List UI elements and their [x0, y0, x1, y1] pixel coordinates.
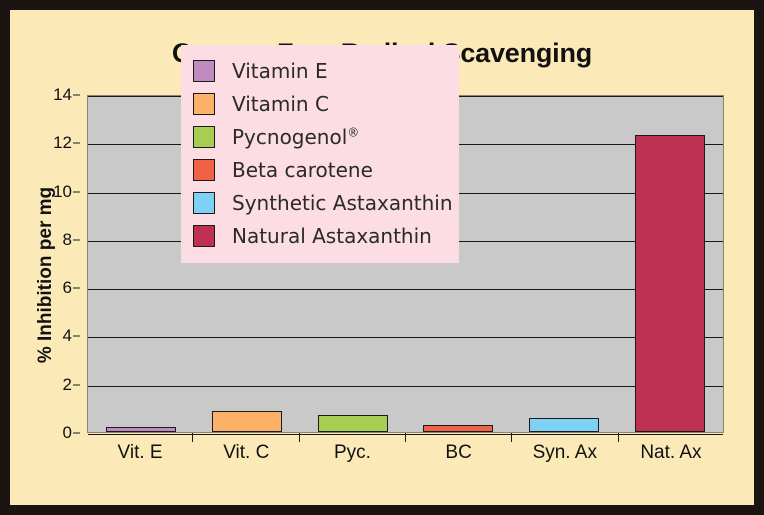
legend-item[interactable]: Vitamin C — [193, 87, 447, 120]
x-axis-tick-label: Vit. E — [87, 442, 193, 464]
x-axis-tick-mark — [619, 433, 724, 442]
bar[interactable] — [318, 415, 388, 432]
bar[interactable] — [635, 135, 705, 432]
x-axis-tick-label: Syn. Ax — [512, 442, 618, 464]
chart-canvas: Oxygen Free Radical Scavenging % Inhibit… — [10, 10, 754, 505]
legend-item[interactable]: Beta carotene — [193, 153, 447, 186]
bar[interactable] — [106, 427, 176, 432]
legend-swatch-icon — [193, 225, 215, 247]
y-axis-tick-mark — [73, 95, 80, 96]
y-axis-tick-label: 0 — [63, 423, 72, 443]
y-axis-tick-label: 2 — [63, 375, 72, 395]
y-axis-tick-mark — [73, 239, 80, 240]
legend-item-label: Vitamin E — [232, 59, 328, 83]
bar-slot — [511, 96, 617, 432]
y-axis-tick-label: 4 — [63, 326, 72, 346]
legend-swatch-icon — [193, 192, 215, 214]
y-axis-tick-mark — [73, 433, 80, 434]
x-axis-tick-label: BC — [406, 442, 512, 464]
y-axis-tick-mark — [73, 191, 80, 192]
legend-item[interactable]: Pycnogenol® — [193, 120, 447, 153]
legend-item-label: Synthetic Astaxanthin — [232, 191, 453, 215]
legend-item-label: Beta carotene — [232, 158, 373, 182]
legend-item[interactable]: Natural Astaxanthin — [193, 219, 447, 252]
legend-item[interactable]: Vitamin E — [193, 54, 447, 87]
legend-item-label: Vitamin C — [232, 92, 329, 116]
y-axis-tick-label: 12 — [53, 133, 72, 153]
y-axis-tick-mark — [73, 288, 80, 289]
legend-item[interactable]: Synthetic Astaxanthin — [193, 186, 447, 219]
chart-outer-frame: Oxygen Free Radical Scavenging % Inhibit… — [0, 0, 764, 515]
legend-swatch-icon — [193, 60, 215, 82]
bar-slot — [88, 96, 194, 432]
x-axis-tick-mark — [300, 433, 406, 442]
bar[interactable] — [423, 425, 493, 432]
y-axis-tick-mark — [73, 336, 80, 337]
x-axis-tick-label: Nat. Ax — [618, 442, 724, 464]
bar[interactable] — [529, 418, 599, 432]
bar-slot — [617, 96, 723, 432]
x-axis-tick-mark — [512, 433, 618, 442]
x-axis-tick-mark — [193, 433, 299, 442]
legend-item-label: Pycnogenol® — [232, 125, 359, 149]
x-axis-tick-mark — [406, 433, 512, 442]
legend-item-label: Natural Astaxanthin — [232, 224, 432, 248]
y-axis-tick-label: 8 — [63, 230, 72, 250]
y-axis-tick-label: 10 — [53, 182, 72, 202]
x-axis-tick-labels: Vit. EVit. CPyc.BCSyn. AxNat. Ax — [87, 442, 724, 464]
legend-swatch-icon — [193, 93, 215, 115]
x-axis-tick-mark — [87, 433, 193, 442]
x-axis-tick-label: Pyc. — [299, 442, 405, 464]
y-axis-tick-labels: 02468101214 — [40, 95, 80, 433]
bar[interactable] — [212, 411, 282, 432]
y-axis-tick-mark — [73, 384, 80, 385]
y-axis-tick-mark — [73, 143, 80, 144]
x-axis-tick-label: Vit. C — [193, 442, 299, 464]
y-axis-tick-label: 6 — [63, 278, 72, 298]
x-axis-tick-marks — [87, 433, 724, 442]
legend-swatch-icon — [193, 126, 215, 148]
registered-trademark-icon: ® — [347, 125, 359, 139]
chart-legend: Vitamin EVitamin CPycnogenol®Beta carote… — [181, 45, 459, 263]
legend-swatch-icon — [193, 159, 215, 181]
y-axis-tick-label: 14 — [53, 85, 72, 105]
